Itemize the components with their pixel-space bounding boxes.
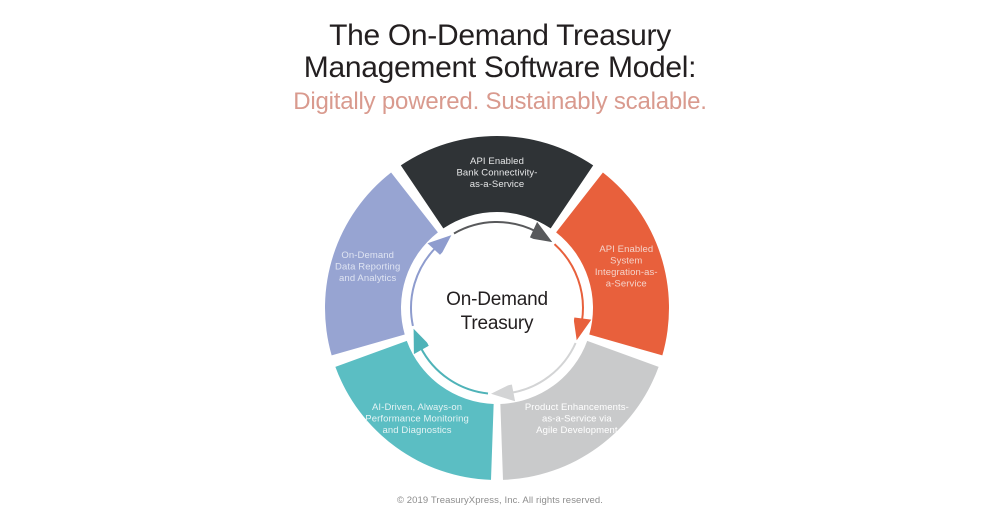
segment-label-line: and Analytics [339, 273, 396, 284]
segment-label-line: API Enabled [470, 156, 524, 167]
hub-label-line-2: Treasury [461, 313, 534, 334]
segment-label-line: API Enabled [599, 244, 653, 255]
segment-label-line: AI-Driven, Always-on [372, 402, 462, 413]
segment-label-line: Bank Connectivity- [456, 168, 537, 179]
segment-label-line: Product Enhancements- [525, 402, 629, 413]
segment-label-data-reporting: On-DemandData Reportingand Analytics [335, 250, 400, 284]
segment-label-line: as-a-Service via [542, 414, 612, 425]
segment-label-line: as-a-Service [470, 179, 525, 190]
segment-label-line: Agile Development [536, 425, 618, 436]
slide-canvas: The On-Demand Treasury Management Softwa… [0, 0, 1000, 524]
segment-label-line: System [610, 256, 642, 267]
segment-label-line: and Diagnostics [383, 425, 452, 436]
segment-label-line: Integration-as- [595, 267, 658, 278]
footer-copyright: © 2019 TreasuryXpress, Inc. All rights r… [0, 495, 1000, 506]
segment-label-line: Data Reporting [335, 262, 400, 273]
donut-diagram: On-Demand Treasury API EnabledBank Conne… [0, 0, 1000, 524]
hub-label-line-1: On-Demand [446, 289, 548, 310]
segment-label-line: Performance Monitoring [365, 414, 469, 425]
segment-label-line: On-Demand [341, 250, 394, 261]
cycle-arrowhead-icon [573, 317, 591, 340]
cycle-arrowhead-icon [491, 384, 515, 402]
segment-label-line: a-Service [606, 279, 647, 290]
